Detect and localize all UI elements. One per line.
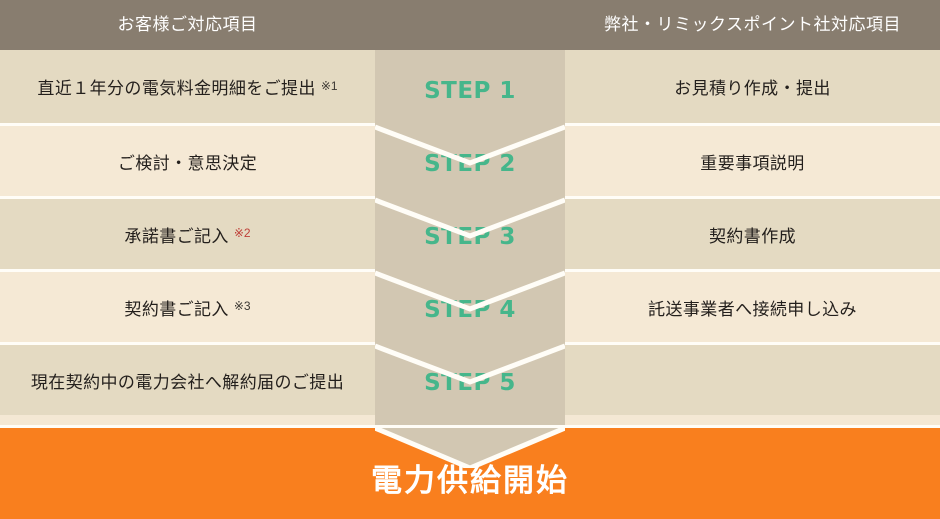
header-customer-label: お客様ご対応項目 [0,0,375,50]
chevron-divider-icon-1 [375,123,565,167]
customer-row-1-note: ※1 [321,79,338,93]
customer-column: 直近１年分の電気料金明細をご提出 ※1 ご検討・意思決定 承諾書ご記入 ※2 契… [0,50,375,428]
chevron-divider-icon-3 [375,269,565,313]
process-flow-diagram: お客様ご対応項目 弊社・リミックスポイント社対応項目 直近１年分の電気料金明細を… [0,0,940,519]
company-row-1-text: お見積り作成・提出 [674,74,831,99]
company-row-5 [565,342,940,415]
customer-row-1: 直近１年分の電気料金明細をご提出 ※1 [0,50,375,123]
customer-row-4-text: 契約書ご記入 [124,295,228,320]
customer-row-5-text: 現在契約中の電力会社へ解約届のご提出 [31,368,344,393]
chevron-divider-icon-2 [375,196,565,240]
customer-row-2-text: ご検討・意思決定 [118,149,257,174]
customer-row-2: ご検討・意思決定 [0,123,375,196]
company-row-4-text: 託送事業者へ接続申し込み [648,295,857,320]
customer-row-4-note: ※3 [234,299,251,313]
company-row-4: 託送事業者へ接続申し込み [565,269,940,342]
step-column: STEP 1 STEP 2 STEP 3 STEP 4 STEP 5 [375,50,565,460]
header-company-label: 弊社・リミックスポイント社対応項目 [565,0,940,50]
company-row-1: お見積り作成・提出 [565,50,940,123]
company-row-2-text: 重要事項説明 [700,149,804,174]
company-row-3: 契約書作成 [565,196,940,269]
company-row-3-text: 契約書作成 [709,222,796,247]
customer-row-3-text: 承諾書ご記入 [124,222,228,247]
header-bar: お客様ご対応項目 弊社・リミックスポイント社対応項目 [0,0,940,50]
supply-start-text: 電力供給開始 [0,455,940,500]
customer-row-1-text: 直近１年分の電気料金明細をご提出 [37,74,315,99]
customer-row-3: 承諾書ご記入 ※2 [0,196,375,269]
step-label-1: STEP 1 [375,78,565,104]
customer-row-3-note: ※2 [234,226,251,240]
company-column: お見積り作成・提出 重要事項説明 契約書作成 託送事業者へ接続申し込み [565,50,940,428]
customer-row-5: 現在契約中の電力会社へ解約届のご提出 [0,342,375,415]
company-row-2: 重要事項説明 [565,123,940,196]
chevron-divider-icon-4 [375,342,565,386]
customer-row-4: 契約書ご記入 ※3 [0,269,375,342]
